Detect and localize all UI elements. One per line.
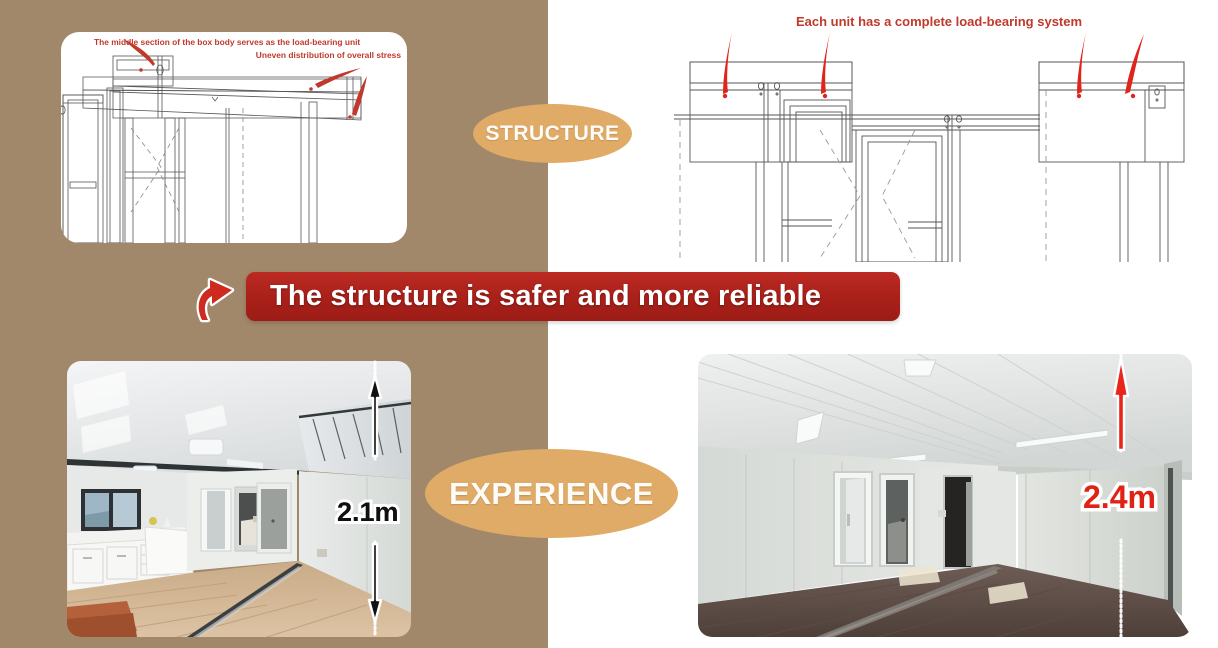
headline-banner-group: The structure is safer and more reliable: [190, 268, 910, 328]
poster-canvas: The middle section of the box body serve…: [0, 0, 1218, 648]
cad-left-caption-1: The middle section of the box body serve…: [94, 37, 360, 47]
experience-badge: EXPERIENCE: [425, 449, 678, 538]
curved-up-arrow-icon: [190, 268, 248, 326]
dimension-label-left: 2.1m 2.1m: [337, 497, 399, 528]
cad-drawing-left: The middle section of the box body serve…: [61, 32, 407, 243]
structure-badge: STRUCTURE: [473, 104, 632, 163]
headline-text: The structure is safer and more reliable: [270, 280, 821, 313]
cad-left-caption-2: Uneven distribution of overall stress: [256, 50, 402, 60]
headline-banner: The structure is safer and more reliable: [246, 272, 900, 321]
cad-drawing-right: Each unit has a complete load-bearing sy…: [660, 0, 1218, 262]
cad-right-caption: Each unit has a complete load-bearing sy…: [796, 14, 1082, 29]
dimension-label-left-text: 2.1m: [337, 497, 399, 527]
dimension-label-right: 2.4m 2.4m: [1083, 479, 1156, 516]
structure-left-card: The middle section of the box body serve…: [61, 32, 407, 243]
dimension-label-right-text: 2.4m: [1083, 479, 1156, 515]
